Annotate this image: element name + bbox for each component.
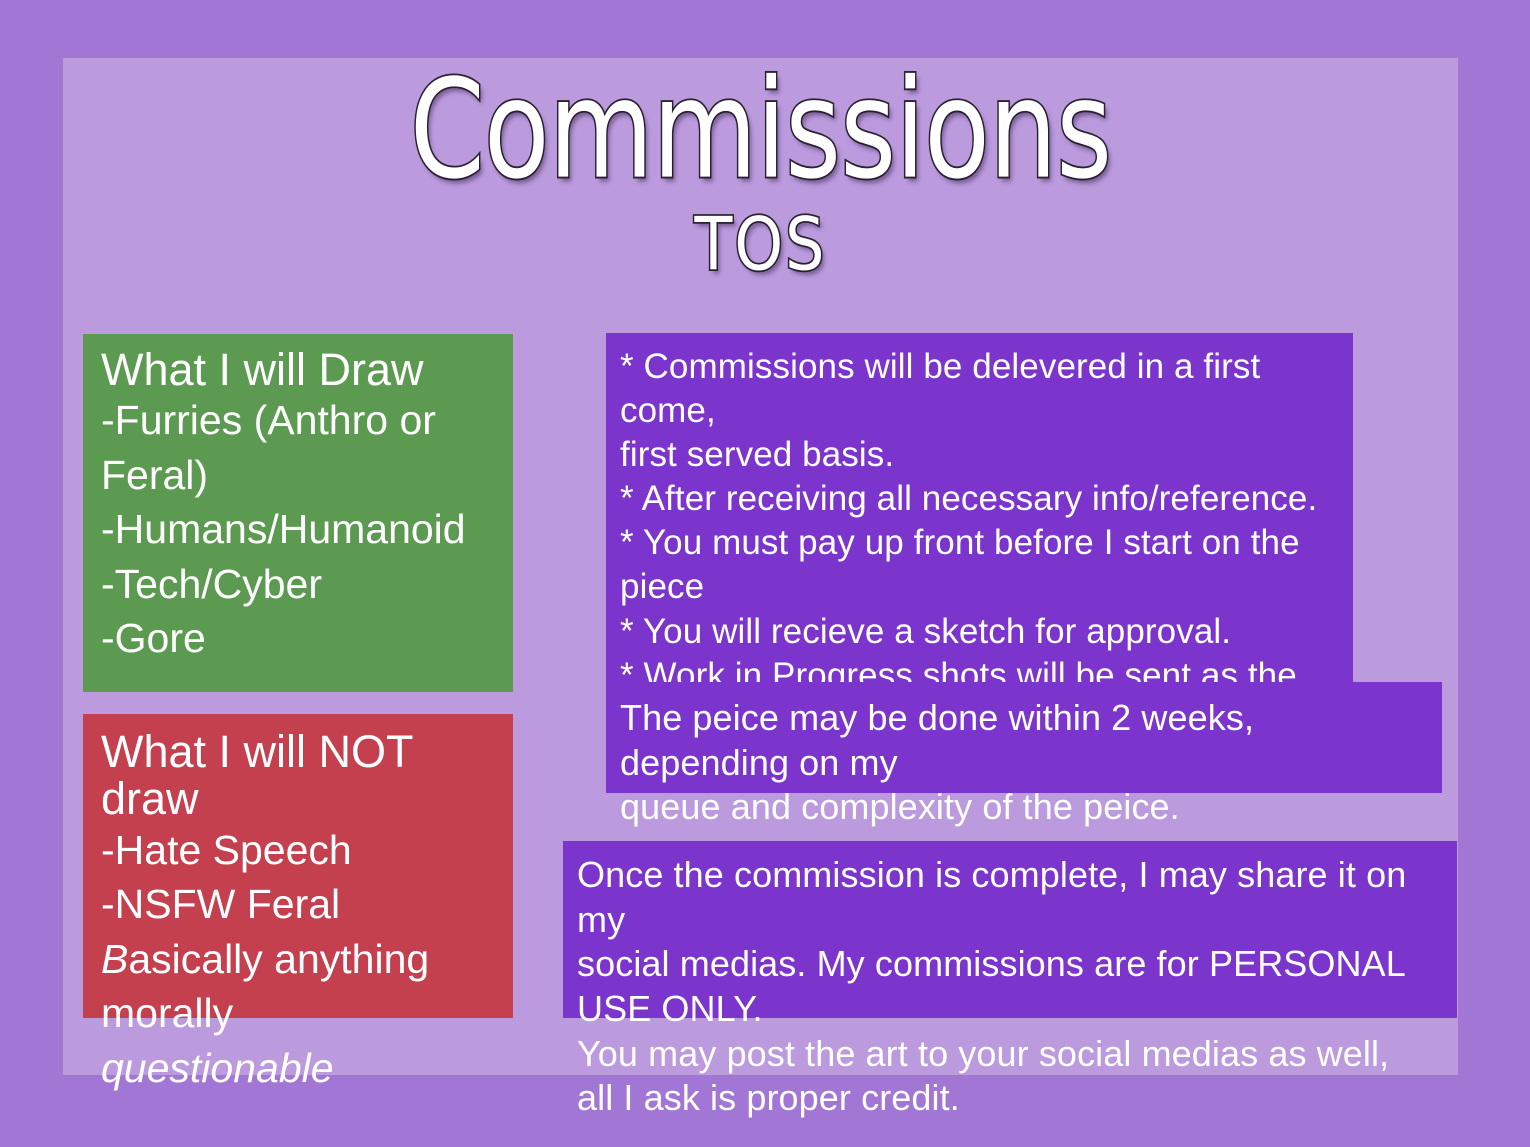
usage-line: Once the commission is complete, I may s… xyxy=(577,853,1447,942)
commissions-tos-poster: Commissions TOS What I will Draw -Furrie… xyxy=(0,0,1530,1147)
will-draw-item: -Furries (Anthro or Feral) xyxy=(101,393,513,502)
wont-draw-panel: What I will NOT draw -Hate Speech -NSFW … xyxy=(83,714,513,1018)
usage-line: all I ask is proper credit. xyxy=(577,1076,1447,1121)
terms-panel: * Commissions will be delevered in a fir… xyxy=(606,333,1353,695)
usage-rights-panel: Once the commission is complete, I may s… xyxy=(563,841,1457,1018)
wont-draw-item: -NSFW Feral xyxy=(101,877,513,932)
terms-line: * After receiving all necessary info/ref… xyxy=(620,477,1343,521)
wont-draw-note-emphasis: questionable xyxy=(101,1041,513,1096)
wont-draw-heading: What I will NOT draw xyxy=(101,728,513,823)
usage-line: social medias. My commissions are for PE… xyxy=(577,942,1447,1031)
terms-line: * You must pay up front before I start o… xyxy=(620,521,1343,609)
timeline-line: queue and complexity of the peice. xyxy=(620,785,1432,830)
wont-draw-note-lead: B xyxy=(101,936,128,982)
will-draw-item: -Humans/Humanoid xyxy=(101,502,513,557)
will-draw-item: -Gore xyxy=(101,611,513,666)
terms-line: * You will recieve a sketch for approval… xyxy=(620,610,1343,654)
wont-draw-note-rest: asically anything morally xyxy=(101,936,441,1037)
will-draw-heading: What I will Draw xyxy=(101,346,513,393)
timeline-line: The peice may be done within 2 weeks, de… xyxy=(620,696,1432,785)
terms-line: first served basis. xyxy=(620,433,1343,477)
usage-line: You may post the art to your social medi… xyxy=(577,1032,1447,1077)
will-draw-panel: What I will Draw -Furries (Anthro or Fer… xyxy=(83,334,513,692)
wont-draw-item: -Hate Speech xyxy=(101,823,513,878)
terms-line: * Commissions will be delevered in a fir… xyxy=(620,345,1343,433)
will-draw-item: -Tech/Cyber xyxy=(101,557,513,612)
wont-draw-note: Basically anything morally xyxy=(101,932,513,1041)
timeline-panel: The peice may be done within 2 weeks, de… xyxy=(606,682,1442,793)
